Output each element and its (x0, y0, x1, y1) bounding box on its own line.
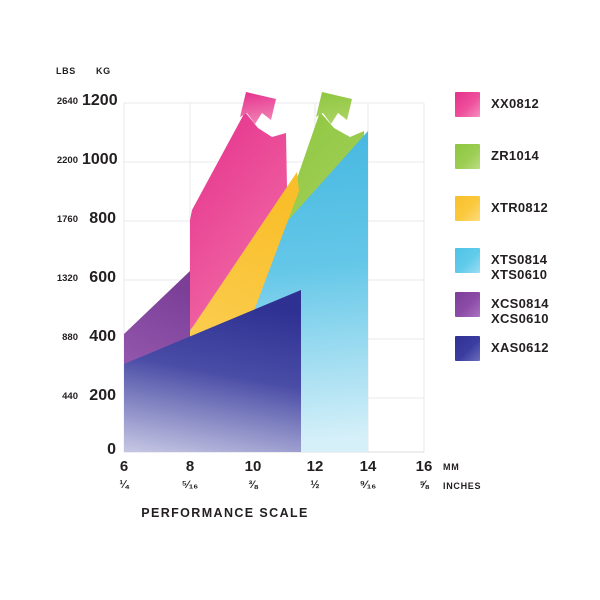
legend-label-xts0814-xts0610: XTS0814 XTS0610 (491, 248, 547, 282)
legend-swatch-zr1014 (455, 144, 480, 169)
legend-swatch-xtr0812 (455, 196, 480, 221)
legend-label-xcs0814-xcs0610: XCS0814 XCS0610 (491, 292, 549, 326)
legend-label-xx0812: XX0812 (491, 92, 539, 111)
x-tick-inches-2: ⅜ (239, 479, 267, 491)
x-tick-inches-0: ¼ (110, 479, 138, 491)
x-tick-mm-4: 14 (354, 458, 382, 475)
legend-item-zr1014[interactable]: ZR1014 (455, 144, 595, 170)
chart-legend: XX0812 ZR1014 XTR0812 XTS0814 XTS0610 XC… (455, 92, 595, 388)
legend-item-xtr0812[interactable]: XTR0812 (455, 196, 595, 222)
legend-label-zr1014: ZR1014 (491, 144, 539, 163)
x-tick-mm-1: 8 (176, 458, 204, 475)
x-axis-unit-mm: MM (443, 462, 459, 472)
x-tick-mm-2: 10 (239, 458, 267, 475)
legend-item-xts0814-xts0610[interactable]: XTS0814 XTS0610 (455, 248, 595, 274)
x-axis-unit-inches: INCHES (443, 481, 481, 491)
legend-label-xts0610: XTS0610 (491, 267, 547, 282)
legend-label-xtr0812: XTR0812 (491, 196, 548, 215)
x-tick-mm-3: 12 (301, 458, 329, 475)
legend-swatch-xas0612 (455, 336, 480, 361)
legend-swatch-xcs0814-xcs0610 (455, 292, 480, 317)
legend-item-xx0812[interactable]: XX0812 (455, 92, 595, 118)
legend-label-xas0612: XAS0612 (491, 336, 549, 355)
legend-item-xcs0814-xcs0610[interactable]: XCS0814 XCS0610 (455, 292, 595, 318)
x-tick-inches-5: ⅝ (410, 479, 438, 491)
x-tick-mm-0: 6 (110, 458, 138, 475)
legend-swatch-xx0812 (455, 92, 480, 117)
x-tick-inches-3: ½ (301, 479, 329, 491)
legend-label-xts0814: XTS0814 (491, 252, 547, 267)
legend-label-xcs0814: XCS0814 (491, 296, 549, 311)
x-tick-mm-5: 16 (410, 458, 438, 475)
legend-label-xcs0610: XCS0610 (491, 311, 549, 326)
chart-canvas: LBS KG 2640 2200 1760 1320 880 440 1200 … (0, 0, 600, 600)
legend-swatch-xts0814-xts0610 (455, 248, 480, 273)
chart-title: PERFORMANCE SCALE (0, 506, 450, 520)
x-tick-inches-4: ⁹⁄₁₆ (354, 479, 382, 491)
x-tick-inches-1: ⁵⁄₁₆ (176, 479, 204, 491)
legend-item-xas0612[interactable]: XAS0612 (455, 336, 595, 362)
